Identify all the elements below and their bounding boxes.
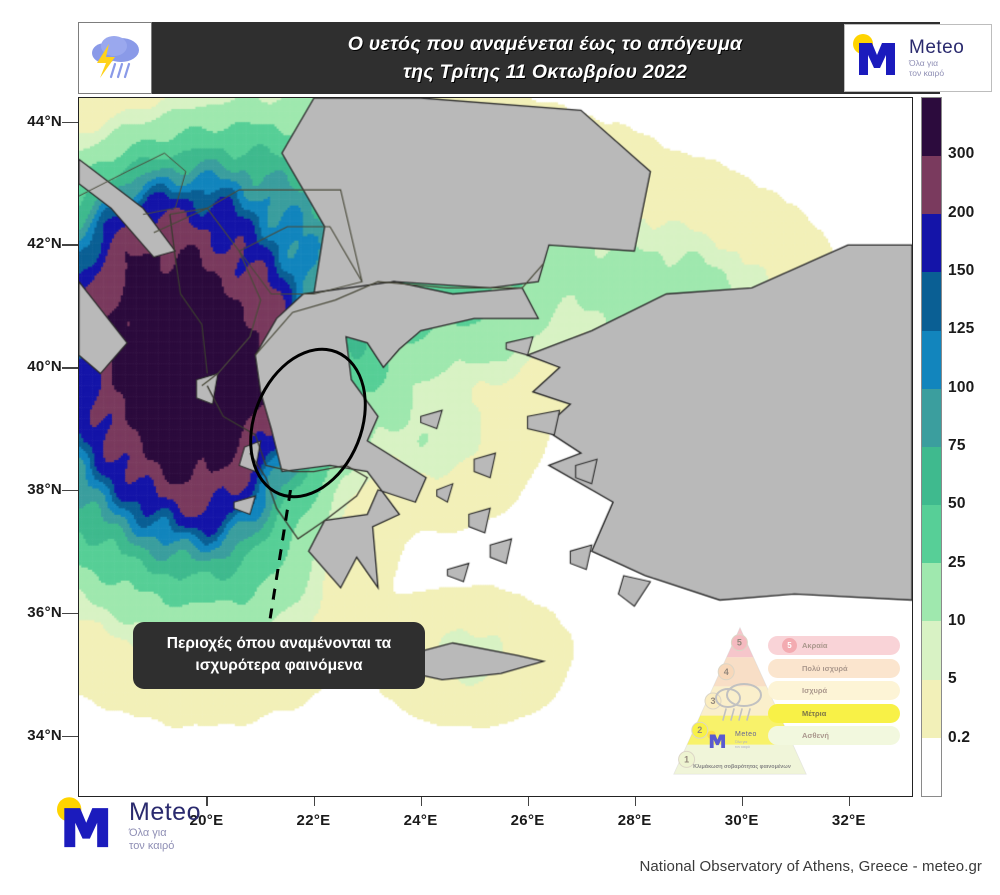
severity-pill: Ασθενή bbox=[768, 726, 900, 745]
lat-tick-mark bbox=[62, 490, 78, 492]
colorbar-band bbox=[922, 563, 941, 621]
colorbar-tick-label: 300 bbox=[948, 145, 974, 163]
colorbar-tick-label: 125 bbox=[948, 320, 974, 338]
lon-tick-label: 26°E bbox=[493, 812, 563, 829]
svg-text:4: 4 bbox=[724, 667, 729, 677]
meteo-logo-header[interactable]: Meteo Όλα για τον καιρό bbox=[844, 24, 992, 92]
pyramid-caption: Κλιμάκωση σοβαρότητας φαινομένων bbox=[676, 764, 808, 770]
colorbar-tick-label: 10 bbox=[948, 612, 966, 630]
colorbar-band bbox=[922, 447, 941, 505]
lon-tick-mark bbox=[742, 797, 744, 806]
colorbar-band bbox=[922, 214, 941, 272]
lat-tick-label: 44°N bbox=[0, 113, 62, 130]
colorbar-tick-label: 5 bbox=[948, 670, 957, 688]
precipitation-colorbar bbox=[921, 97, 942, 797]
lon-tick-label: 32°E bbox=[814, 812, 884, 829]
severity-scale-legend: 54321 Meteo Όλα για τον καιρό Κλιμάκωση … bbox=[672, 626, 900, 786]
lat-tick-label: 36°N bbox=[0, 604, 62, 621]
lat-tick-mark bbox=[62, 736, 78, 738]
colorbar-band bbox=[922, 389, 941, 447]
colorbar-tick-label: 0.2 bbox=[948, 729, 970, 747]
svg-text:2: 2 bbox=[697, 725, 702, 735]
title-line-2: της Τρίτης 11 Οκτωβρίου 2022 bbox=[348, 58, 742, 86]
meteo-mark-icon bbox=[850, 33, 902, 84]
lon-tick-label: 30°E bbox=[707, 812, 777, 829]
lat-tick-label: 34°N bbox=[0, 727, 62, 744]
lat-tick-mark bbox=[62, 613, 78, 615]
lon-tick-label: 22°E bbox=[279, 812, 349, 829]
severity-pill: Πολύ ισχυρά bbox=[768, 659, 900, 678]
page-title: Ο υετός που αναμένεται έως το απόγευμα τ… bbox=[348, 30, 742, 87]
colorbar-tick-label: 150 bbox=[948, 262, 974, 280]
colorbar-band bbox=[922, 505, 941, 563]
meteo-tagline-footer-1: Όλα για bbox=[129, 827, 201, 840]
colorbar-band bbox=[922, 331, 941, 389]
colorbar-tick-label: 75 bbox=[948, 437, 966, 455]
lon-tick-mark bbox=[314, 797, 316, 806]
severity-pill: Μέτρια bbox=[768, 704, 900, 723]
meteo-wordmark-footer: Meteo bbox=[129, 800, 201, 825]
colorbar-band bbox=[922, 621, 941, 679]
meteo-tagline-pyr-2: τον καιρό bbox=[735, 745, 757, 749]
lon-tick-mark bbox=[528, 797, 530, 806]
lon-tick-label: 28°E bbox=[600, 812, 670, 829]
meteo-wordmark: Meteo bbox=[909, 38, 964, 57]
annotation-line-2: ισχυρότερα φαινόμενα bbox=[141, 655, 417, 677]
lat-tick-mark bbox=[62, 244, 78, 246]
credit-text: National Observatory of Athens, Greece -… bbox=[639, 858, 982, 875]
lat-tick-label: 42°N bbox=[0, 235, 62, 252]
colorbar-band bbox=[922, 680, 941, 738]
severity-rank-badge: 5 bbox=[782, 638, 797, 653]
annotation-line-1: Περιοχές όπου αναμένονται τα bbox=[141, 633, 417, 655]
meteo-mark-icon-footer bbox=[48, 796, 122, 857]
lat-tick-label: 38°N bbox=[0, 481, 62, 498]
lon-tick-mark bbox=[849, 797, 851, 806]
title-line-1: Ο υετός που αναμένεται έως το απόγευμα bbox=[348, 30, 742, 58]
thunderstorm-icon bbox=[78, 22, 152, 94]
annotation-callout: Περιοχές όπου αναμένονται τα ισχυρότερα … bbox=[133, 622, 425, 689]
colorbar-tick-label: 25 bbox=[948, 554, 966, 572]
svg-text:1: 1 bbox=[684, 754, 689, 764]
meteo-tagline-footer-2: τον καιρό bbox=[129, 840, 201, 853]
lat-tick-label: 40°N bbox=[0, 358, 62, 375]
meteo-wordmark-pyramid: Meteo bbox=[735, 731, 757, 738]
colorbar-band bbox=[922, 98, 941, 156]
colorbar-band bbox=[922, 156, 941, 214]
severity-pill: Ισχυρά bbox=[768, 681, 900, 700]
lat-tick-mark bbox=[62, 367, 78, 369]
colorbar-band bbox=[922, 272, 941, 330]
title-banner: Ο υετός που αναμένεται έως το απόγευμα τ… bbox=[150, 22, 940, 94]
meteo-tagline-2: τον καιρό bbox=[909, 69, 964, 79]
lon-tick-mark bbox=[635, 797, 637, 806]
meteo-logo-pyramid: Meteo Όλα για τον καιρό bbox=[706, 730, 757, 750]
colorbar-tick-label: 200 bbox=[948, 204, 974, 222]
lon-tick-mark bbox=[421, 797, 423, 806]
colorbar-tick-label: 50 bbox=[948, 495, 966, 513]
lat-tick-mark bbox=[62, 122, 78, 124]
colorbar-band bbox=[922, 738, 941, 796]
svg-text:5: 5 bbox=[737, 638, 742, 648]
meteo-logo-footer[interactable]: Meteo Όλα για τον καιρό bbox=[48, 796, 201, 857]
lon-tick-label: 24°E bbox=[386, 812, 456, 829]
colorbar-tick-label: 100 bbox=[948, 379, 974, 397]
lon-tick-mark bbox=[206, 797, 208, 806]
pyramid-rain-icon bbox=[710, 678, 772, 726]
